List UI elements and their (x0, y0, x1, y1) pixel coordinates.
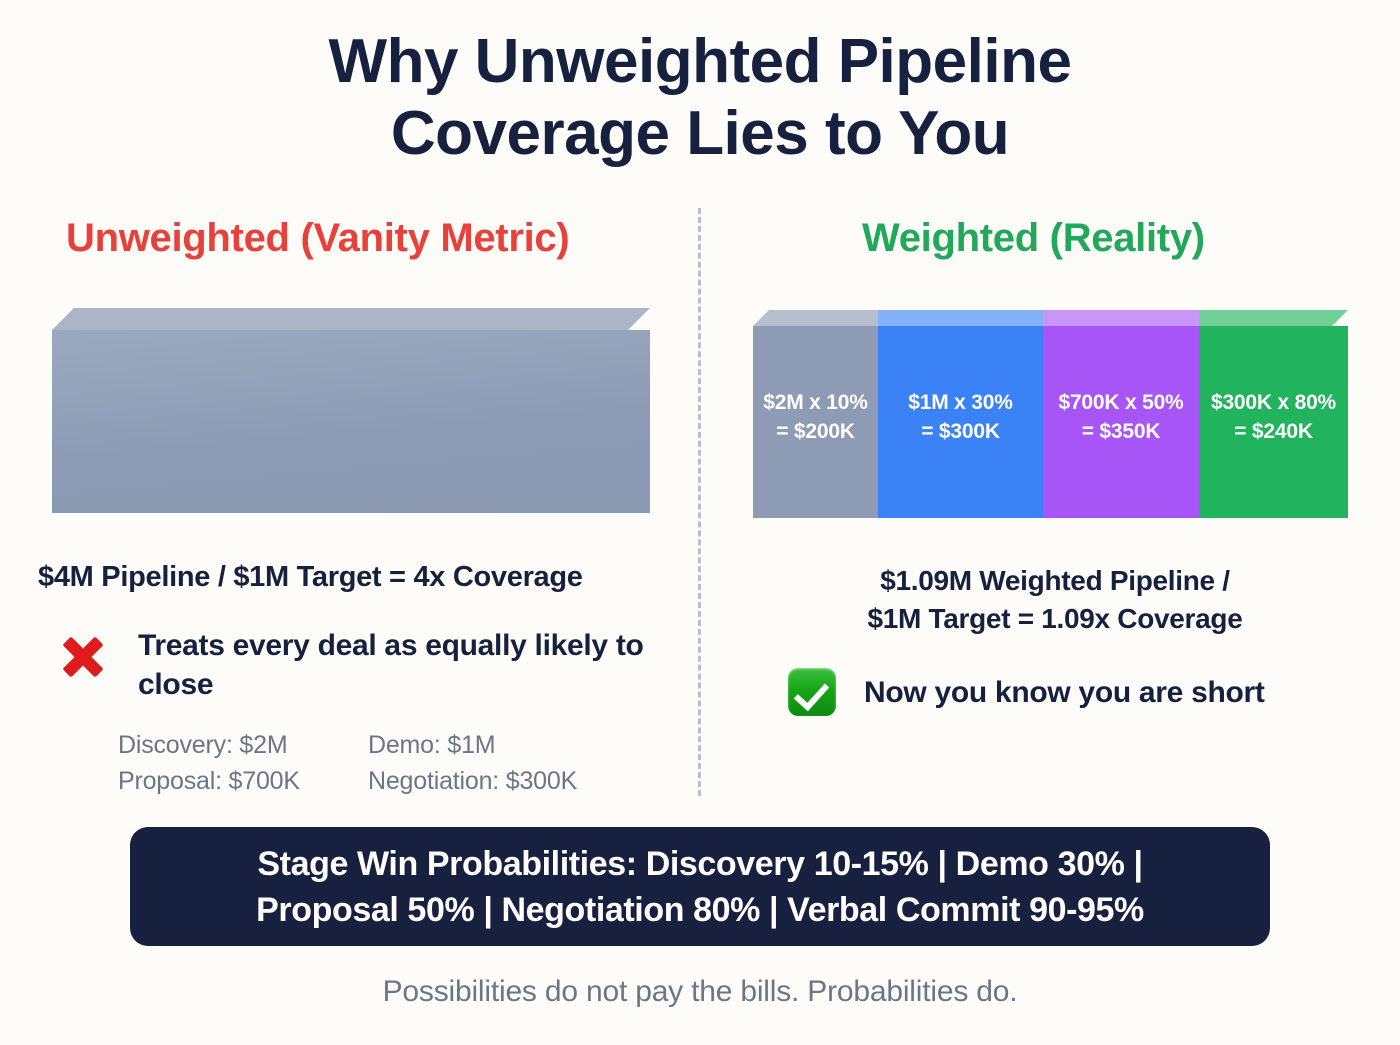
list-item: Discovery: $2M (118, 728, 368, 762)
segment-label-line-2: = $240K (1205, 417, 1342, 446)
banner-line-2: Proposal 50% | Negotiation 80% | Verbal … (256, 887, 1144, 933)
banner-text: Stage Win Probabilities: Discovery 10-15… (256, 841, 1144, 933)
segment-label: $300K x 80%= $240K (1199, 388, 1348, 446)
segment-label-line-2: = $300K (884, 417, 1037, 446)
column-divider (698, 208, 701, 796)
segment-label-line-1: $300K x 80% (1205, 388, 1342, 417)
unweighted-callout-text: Treats every deal as equally likely to c… (138, 626, 666, 704)
weighted-segment-1: $1M x 30%= $300K (878, 310, 1043, 518)
weighted-summary-line-1: $1.09M Weighted Pipeline / (740, 562, 1370, 600)
bar-top-face (52, 308, 650, 330)
segment-top-face (1199, 310, 1348, 326)
banner-line-1: Stage Win Probabilities: Discovery 10-15… (256, 841, 1144, 887)
list-item: Demo: $1M (368, 728, 678, 762)
check-mark-button-icon (788, 668, 836, 716)
segment-label-line-1: $2M x 10% (759, 388, 872, 417)
segment-label: $700K x 50%= $350K (1043, 388, 1199, 446)
left-column-heading: Unweighted (Vanity Metric) (66, 216, 569, 261)
unweighted-callout: Treats every deal as equally likely to c… (56, 628, 666, 704)
segment-top-face (1043, 310, 1199, 326)
right-column-heading: Weighted (Reality) (862, 216, 1205, 261)
weighted-pipeline-bar: $2M x 10%= $200K$1M x 30%= $300K$700K x … (753, 310, 1348, 518)
weighted-summary-line-2: $1M Target = 1.09x Coverage (740, 600, 1370, 638)
unweighted-pipeline-bar (52, 308, 650, 513)
unweighted-coverage-summary: $4M Pipeline / $1M Target = 4x Coverage (38, 558, 668, 596)
weighted-coverage-summary: $1.09M Weighted Pipeline / $1M Target = … (740, 562, 1370, 638)
weighted-segment-3: $300K x 80%= $240K (1199, 310, 1348, 518)
weighted-segment-0: $2M x 10%= $200K (753, 310, 878, 518)
stage-breakdown-list: Discovery: $2M Demo: $1M Proposal: $700K… (118, 728, 678, 798)
list-item: Negotiation: $300K (368, 764, 678, 798)
segment-label: $1M x 30%= $300K (878, 388, 1043, 446)
segment-label: $2M x 10%= $200K (753, 388, 878, 446)
weighted-callout: Now you know you are short (788, 668, 1348, 716)
page-title: Why Unweighted Pipeline Coverage Lies to… (0, 26, 1400, 170)
title-line-2: Coverage Lies to You (0, 98, 1400, 170)
segment-top-face (753, 310, 878, 326)
title-line-1: Why Unweighted Pipeline (0, 26, 1400, 98)
segment-label-line-1: $700K x 50% (1049, 388, 1193, 417)
segment-label-line-2: = $350K (1049, 417, 1193, 446)
list-item: Proposal: $700K (118, 764, 368, 798)
segment-label-line-1: $1M x 30% (884, 388, 1037, 417)
bar-front-face (52, 330, 650, 513)
cross-mark-icon (56, 630, 110, 684)
segment-label-line-2: = $200K (759, 417, 872, 446)
stage-win-probabilities-banner: Stage Win Probabilities: Discovery 10-15… (130, 827, 1270, 946)
weighted-segment-2: $700K x 50%= $350K (1043, 310, 1199, 518)
footer-tagline: Possibilities do not pay the bills. Prob… (0, 975, 1400, 1009)
infographic-canvas: Why Unweighted Pipeline Coverage Lies to… (0, 0, 1400, 1045)
weighted-callout-text: Now you know you are short (864, 673, 1265, 712)
segment-top-face (878, 310, 1043, 326)
